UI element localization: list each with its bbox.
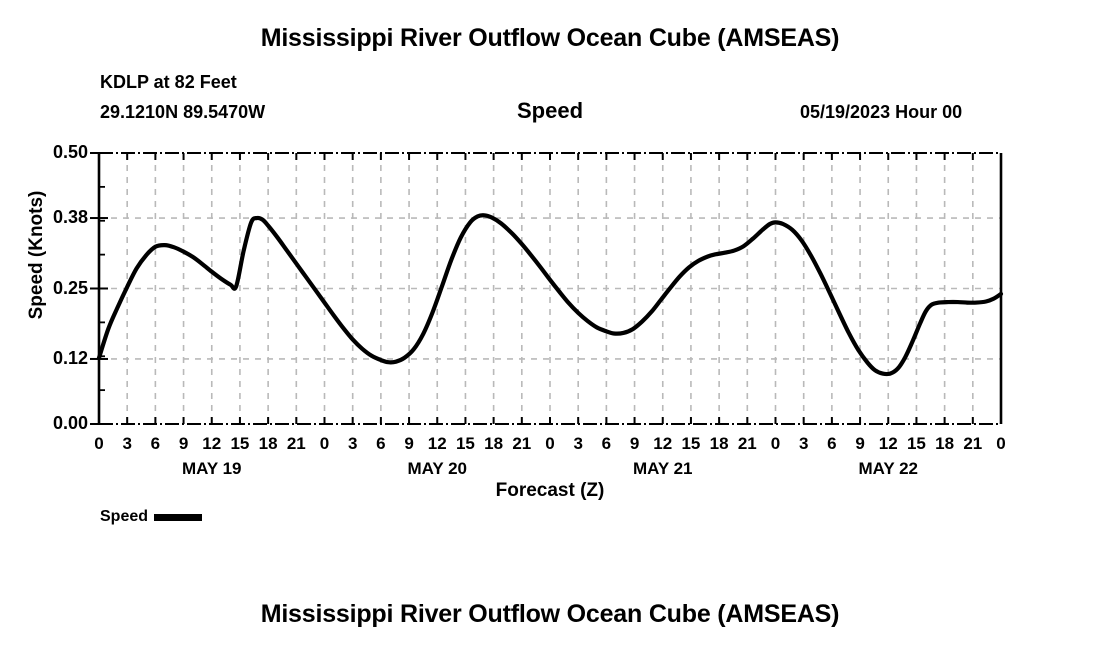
chart-figure: Mississippi River Outflow Ocean Cube (AM… xyxy=(0,0,1100,650)
legend-label: Speed xyxy=(100,508,148,526)
x-tick-label: 12 xyxy=(197,434,227,454)
x-tick-label: 21 xyxy=(507,434,537,454)
x-tick-label: 6 xyxy=(591,434,621,454)
legend: Speed xyxy=(100,508,202,526)
x-tick-label: 15 xyxy=(901,434,931,454)
y-tick-label: 0.12 xyxy=(28,348,88,369)
x-tick-label: 3 xyxy=(789,434,819,454)
x-tick-label: 21 xyxy=(281,434,311,454)
x-tick-label: 15 xyxy=(450,434,480,454)
x-tick-label: 3 xyxy=(563,434,593,454)
x-tick-label: 12 xyxy=(873,434,903,454)
x-tick-label: 0 xyxy=(986,434,1016,454)
x-tick-label: 18 xyxy=(930,434,960,454)
day-label: MAY 22 xyxy=(828,459,948,479)
x-tick-label: 6 xyxy=(817,434,847,454)
x-tick-label: 0 xyxy=(84,434,114,454)
x-tick-label: 15 xyxy=(225,434,255,454)
x-tick-label: 9 xyxy=(620,434,650,454)
y-tick-label: 0.25 xyxy=(28,278,88,299)
plot-area xyxy=(0,0,1100,650)
x-tick-label: 12 xyxy=(422,434,452,454)
x-tick-label: 21 xyxy=(958,434,988,454)
x-tick-label: 21 xyxy=(732,434,762,454)
x-tick-label: 9 xyxy=(845,434,875,454)
day-label: MAY 19 xyxy=(152,459,272,479)
x-tick-label: 0 xyxy=(535,434,565,454)
x-tick-label: 18 xyxy=(479,434,509,454)
day-label: MAY 20 xyxy=(377,459,497,479)
legend-swatch-speed xyxy=(154,514,202,521)
x-tick-label: 0 xyxy=(310,434,340,454)
x-tick-label: 15 xyxy=(676,434,706,454)
x-tick-label: 9 xyxy=(169,434,199,454)
y-tick-label: 0.00 xyxy=(28,413,88,434)
x-tick-label: 3 xyxy=(338,434,368,454)
chart-title-bottom: Mississippi River Outflow Ocean Cube (AM… xyxy=(0,600,1100,629)
day-label: MAY 21 xyxy=(603,459,723,479)
x-tick-label: 12 xyxy=(648,434,678,454)
x-tick-label: 18 xyxy=(253,434,283,454)
x-tick-label: 0 xyxy=(761,434,791,454)
x-tick-label: 9 xyxy=(394,434,424,454)
y-tick-label: 0.50 xyxy=(28,142,88,163)
x-tick-label: 18 xyxy=(704,434,734,454)
x-tick-label: 6 xyxy=(140,434,170,454)
y-tick-label: 0.38 xyxy=(28,207,88,228)
x-tick-label: 6 xyxy=(366,434,396,454)
x-tick-label: 3 xyxy=(112,434,142,454)
